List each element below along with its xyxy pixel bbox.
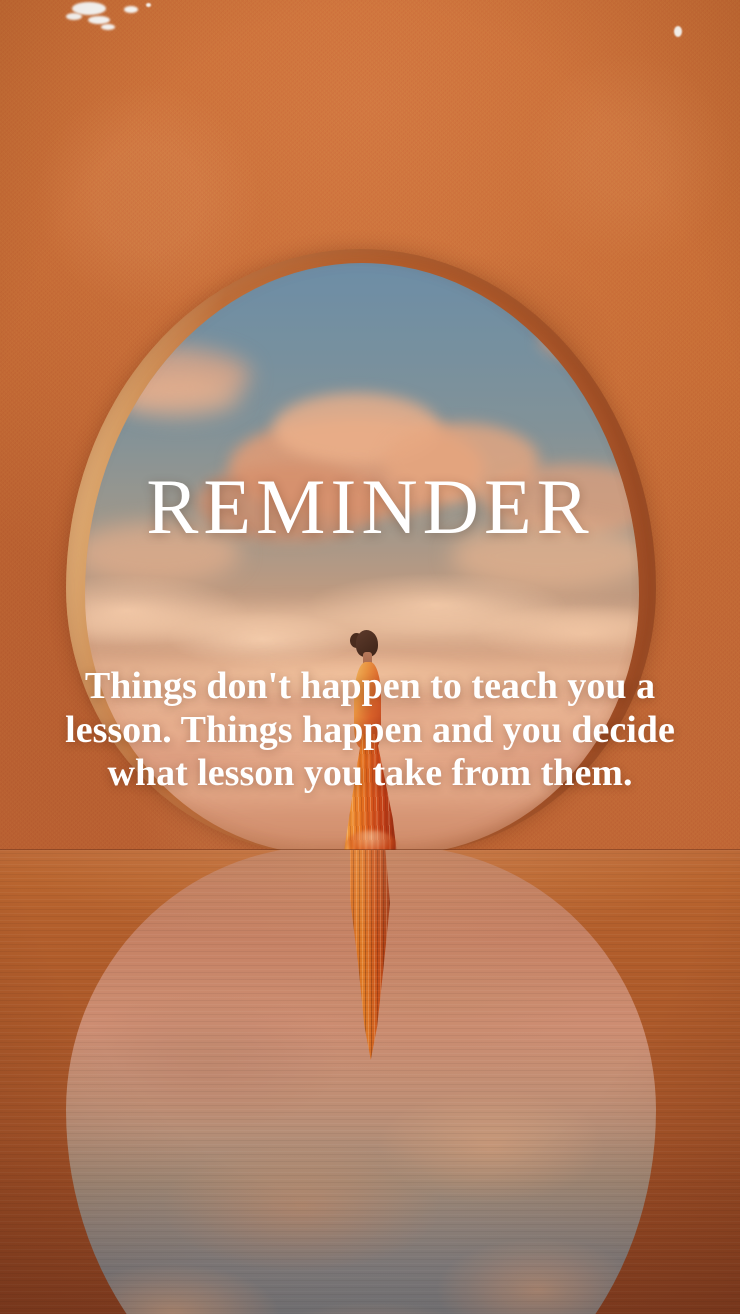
cloud-wisp-icon (66, 13, 82, 20)
cloud-shape (539, 316, 639, 363)
cloud-wisp-icon (88, 16, 110, 24)
reflecting-water (0, 850, 740, 1314)
cloud-speck-icon (146, 3, 151, 7)
reminder-poster: REMINDER Things don't happen to teach yo… (0, 0, 740, 1314)
cloud-speck-icon (674, 26, 682, 37)
page-title: REMINDER (0, 468, 740, 546)
quote-text: Things don't happen to teach you a lesso… (50, 665, 690, 796)
cloud-wisp-icon (101, 24, 115, 30)
cloud-shape (118, 375, 240, 416)
cloud-wisp-icon (124, 6, 138, 13)
